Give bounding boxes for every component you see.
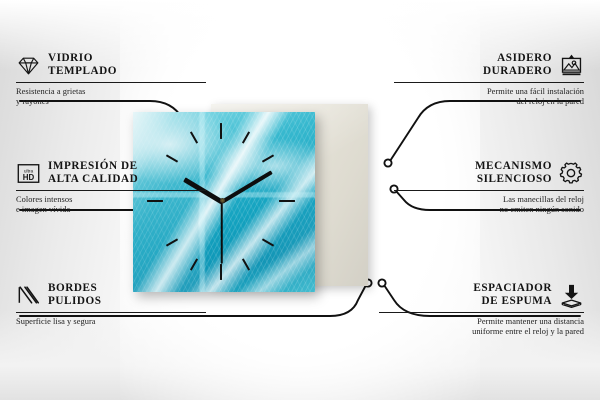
feature-subtitle-line2: e imagen vívida [16, 205, 206, 215]
picture-hanger-icon [559, 53, 584, 78]
feature-subtitle-line2: del reloj en la pared [394, 97, 584, 107]
gear-icon [559, 161, 584, 186]
connector-asidero [390, 101, 580, 161]
feature-impresion-alta-calidad: ultra HD IMPRESIÓN DE ALTA CALIDAD Color… [16, 160, 206, 215]
feature-mecanismo-silencioso: MECANISMO SILENCIOSO Las manecillas del … [394, 160, 584, 215]
feature-subtitle-line1: Las manecillas del reloj [394, 195, 584, 205]
feature-asidero-duradero: ASIDERO DURADERO Permite una fácil insta… [394, 52, 584, 107]
feature-subtitle-line1: Resistencia a grietas [16, 87, 206, 97]
connector-dot-asidero [384, 159, 391, 166]
second-hand [221, 202, 223, 264]
feature-subtitle-line1: Colores intensos [16, 195, 206, 205]
feature-divider [16, 190, 206, 191]
polished-edges-icon [16, 283, 41, 308]
feature-subtitle-line2: no emiten ningún sonido [394, 205, 584, 215]
feature-title: IMPRESIÓN DE ALTA CALIDAD [48, 160, 138, 187]
feature-header: ultra HD IMPRESIÓN DE ALTA CALIDAD [16, 160, 206, 187]
svg-text:HD: HD [23, 173, 35, 182]
ultra-hd-icon: ultra HD [16, 161, 41, 186]
feature-bordes-pulidos: BORDES PULIDOS Superficie lisa y segura [16, 282, 206, 327]
feature-header: ESPACIADOR DE ESPUMA [379, 282, 584, 309]
feature-divider [394, 190, 584, 191]
feature-title: VIDRIO TEMPLADO [48, 52, 117, 79]
diamond-icon [16, 53, 41, 78]
feature-header: ASIDERO DURADERO [394, 52, 584, 79]
foam-spacer-icon [559, 283, 584, 308]
feature-espaciador-de-espuma: ESPACIADOR DE ESPUMA Permite mantener un… [379, 282, 584, 337]
feature-divider [16, 312, 206, 313]
hour-marker [220, 123, 222, 139]
feature-subtitle-line1: Superficie lisa y segura [16, 317, 206, 327]
feature-header: BORDES PULIDOS [16, 282, 206, 309]
feature-subtitle-line1: Permite mantener una distancia [379, 317, 584, 327]
feature-subtitle-line1: Permite una fácil instalación [394, 87, 584, 97]
feature-title: ASIDERO DURADERO [483, 52, 552, 79]
clock-center-cap [220, 198, 225, 203]
feature-title: ESPACIADOR DE ESPUMA [473, 282, 552, 309]
feature-subtitle-line2: y rayones [16, 97, 206, 107]
feature-title: BORDES PULIDOS [48, 282, 102, 309]
feature-divider [16, 82, 206, 83]
hour-marker [220, 264, 222, 280]
feature-header: MECANISMO SILENCIOSO [394, 160, 584, 187]
feature-title: MECANISMO SILENCIOSO [475, 160, 552, 187]
feature-divider [379, 312, 584, 313]
feature-subtitle-line2: uniforme entre el reloj y la pared [379, 327, 584, 337]
feature-divider [394, 82, 584, 83]
feature-header: VIDRIO TEMPLADO [16, 52, 206, 79]
feature-vidrio-templado: VIDRIO TEMPLADO Resistencia a grietas y … [16, 52, 206, 107]
